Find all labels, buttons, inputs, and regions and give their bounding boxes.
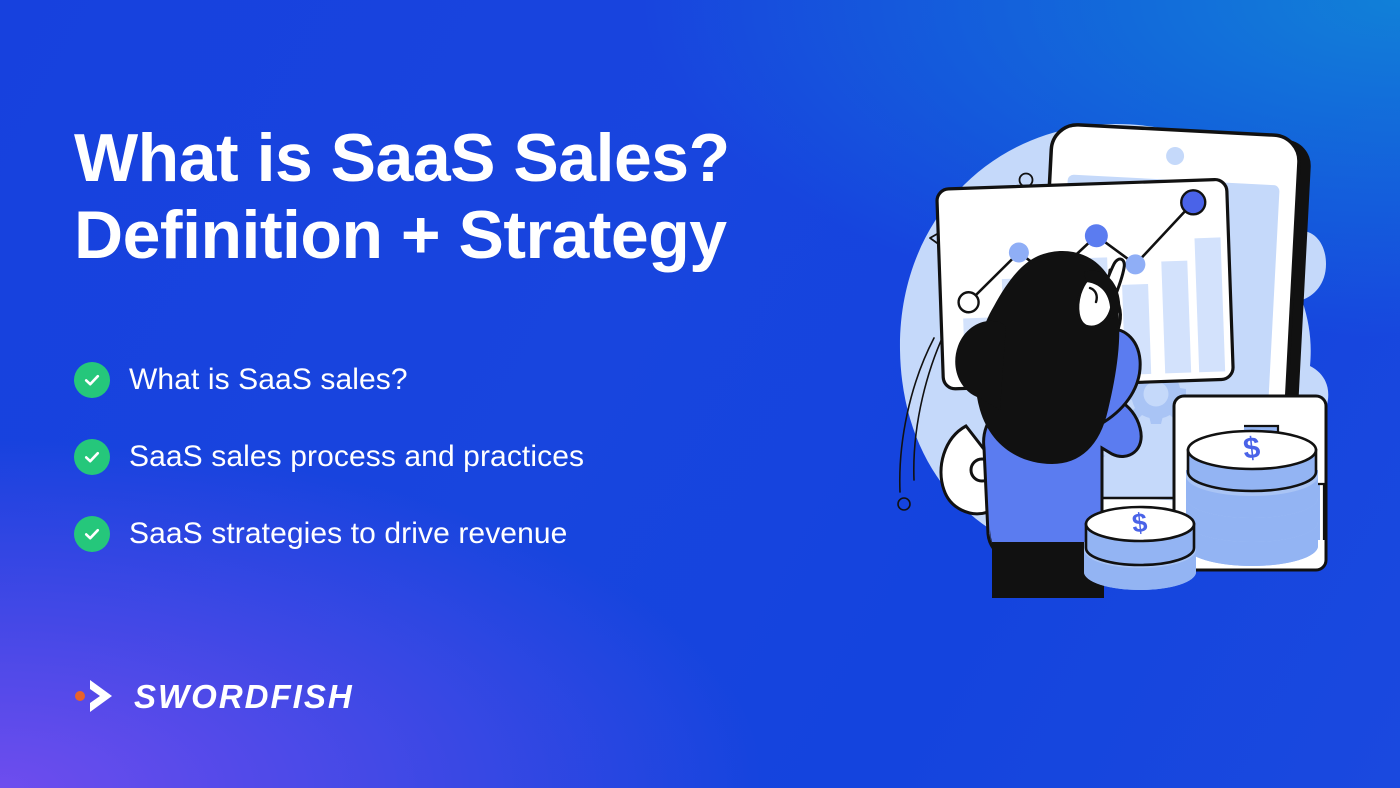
list-item-label: What is SaaS sales? — [129, 363, 408, 397]
logo-wordmark: SWORDFISH — [134, 680, 354, 713]
chevron-arrow-logo-mark — [72, 672, 120, 720]
page-title: What is SaaS Sales? Definition + Strateg… — [74, 120, 834, 274]
list-item-label: SaaS strategies to drive revenue — [129, 517, 567, 551]
swordfish-logo[interactable]: SWORDFISH — [72, 672, 354, 720]
coin-stack-tall: $ — [1186, 431, 1318, 566]
svg-text:$: $ — [1131, 507, 1149, 538]
check-circle-icon — [74, 516, 110, 552]
illustration-sales-analytics: $ $ — [840, 98, 1380, 598]
decor-circle — [898, 498, 910, 510]
check-circle-icon — [74, 362, 110, 398]
check-circle-icon — [74, 439, 110, 475]
feature-checklist: What is SaaS sales? SaaS sales process a… — [74, 358, 834, 589]
headline-block: What is SaaS Sales? Definition + Strateg… — [74, 120, 834, 274]
list-item: SaaS sales process and practices — [74, 435, 834, 479]
list-item-label: SaaS sales process and practices — [129, 440, 584, 474]
list-item: SaaS strategies to drive revenue — [74, 512, 834, 556]
promo-banner: $ $ What is SaaS Sales? Definition + Str… — [0, 0, 1400, 788]
list-item: What is SaaS sales? — [74, 358, 834, 402]
coin-stack-short: $ — [1084, 507, 1196, 590]
